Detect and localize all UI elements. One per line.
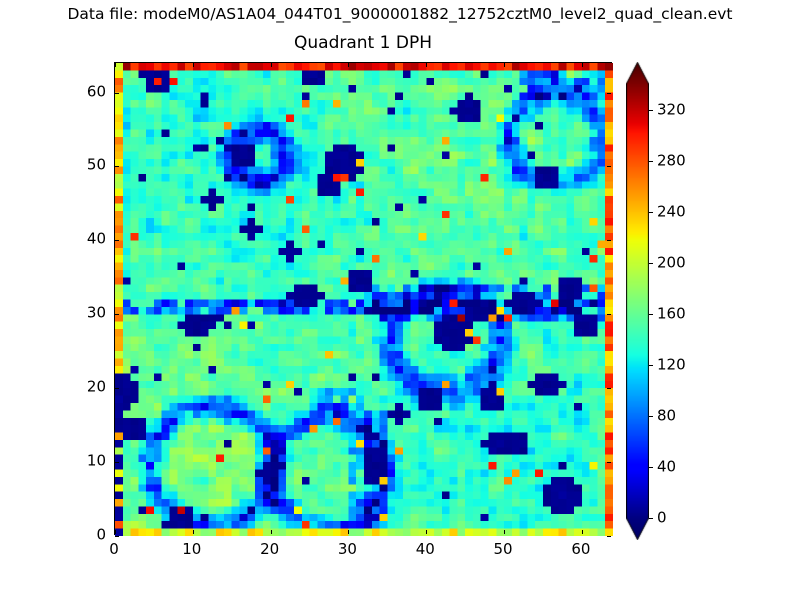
y-axis-tick [607,240,611,241]
y-axis-tick-label: 0 [68,527,106,544]
y-axis-tick-label: 50 [68,157,106,174]
x-axis-tick [426,530,427,534]
x-axis-tick [582,530,583,534]
data-file-title: Data file: modeM0/AS1A04_044T01_90000018… [0,5,800,24]
y-axis-tick [115,388,119,389]
y-axis-tick [607,462,611,463]
x-axis-tick [348,63,349,67]
x-axis-tick [504,530,505,534]
y-axis-tick [115,166,119,167]
colorbar-tick [649,518,653,519]
y-axis-tick [607,93,611,94]
x-axis-tick-label: 50 [494,541,513,558]
x-axis-tick-label: 20 [260,541,279,558]
x-axis-tick [348,530,349,534]
colorbar-tick-label: 0 [657,510,667,527]
y-axis-tick [115,536,119,537]
y-axis-tick-label: 20 [68,379,106,396]
colorbar-tick-label: 80 [657,407,676,424]
y-axis-tick-label: 30 [68,305,106,322]
colorbar-tick [649,212,653,213]
colorbar-tick [649,161,653,162]
figure-canvas: Data file: modeM0/AS1A04_044T01_90000018… [0,0,800,600]
colorbar-tick [649,416,653,417]
y-axis-tick [115,462,119,463]
x-axis-tick-label: 10 [182,541,201,558]
x-axis-tick-label: 30 [338,541,357,558]
page-title: Quadrant 1 DPH [114,33,612,54]
x-axis-tick [271,63,272,67]
colorbar-tick-label: 320 [657,101,686,118]
colorbar-tick-label: 40 [657,458,676,475]
colorbar-tick-label: 240 [657,203,686,220]
x-axis-tick [115,530,116,534]
colorbar-tick [649,467,653,468]
x-axis-tick-label: 40 [416,541,435,558]
heatmap-axes[interactable] [114,62,612,535]
y-axis-tick [607,166,611,167]
colorbar[interactable]: 04080120160200240280320 [626,62,649,540]
x-axis-tick [193,63,194,67]
y-axis-tick [115,240,119,241]
x-axis-tick [271,530,272,534]
colorbar-tick [649,110,653,111]
x-axis-tick-label: 0 [109,541,119,558]
heatmap-image[interactable] [115,63,613,536]
x-axis-tick [115,63,116,67]
colorbar-tick [649,365,653,366]
colorbar-tick-label: 200 [657,254,686,271]
y-axis-tick-label: 60 [68,83,106,100]
colorbar-gradient[interactable] [626,62,649,540]
colorbar-tick-label: 120 [657,356,686,373]
colorbar-tick [649,314,653,315]
y-axis-tick [607,536,611,537]
x-axis-tick [582,63,583,67]
colorbar-tick [649,263,653,264]
colorbar-tick-label: 160 [657,305,686,322]
y-axis-tick [607,314,611,315]
y-axis-tick [115,314,119,315]
x-axis-tick-label: 60 [571,541,590,558]
y-axis-tick [115,93,119,94]
x-axis-tick [426,63,427,67]
colorbar-tick-label: 280 [657,152,686,169]
x-axis-tick [193,530,194,534]
y-axis-tick-label: 40 [68,231,106,248]
y-axis-tick [607,388,611,389]
y-axis-tick-label: 10 [68,453,106,470]
x-axis-tick [504,63,505,67]
